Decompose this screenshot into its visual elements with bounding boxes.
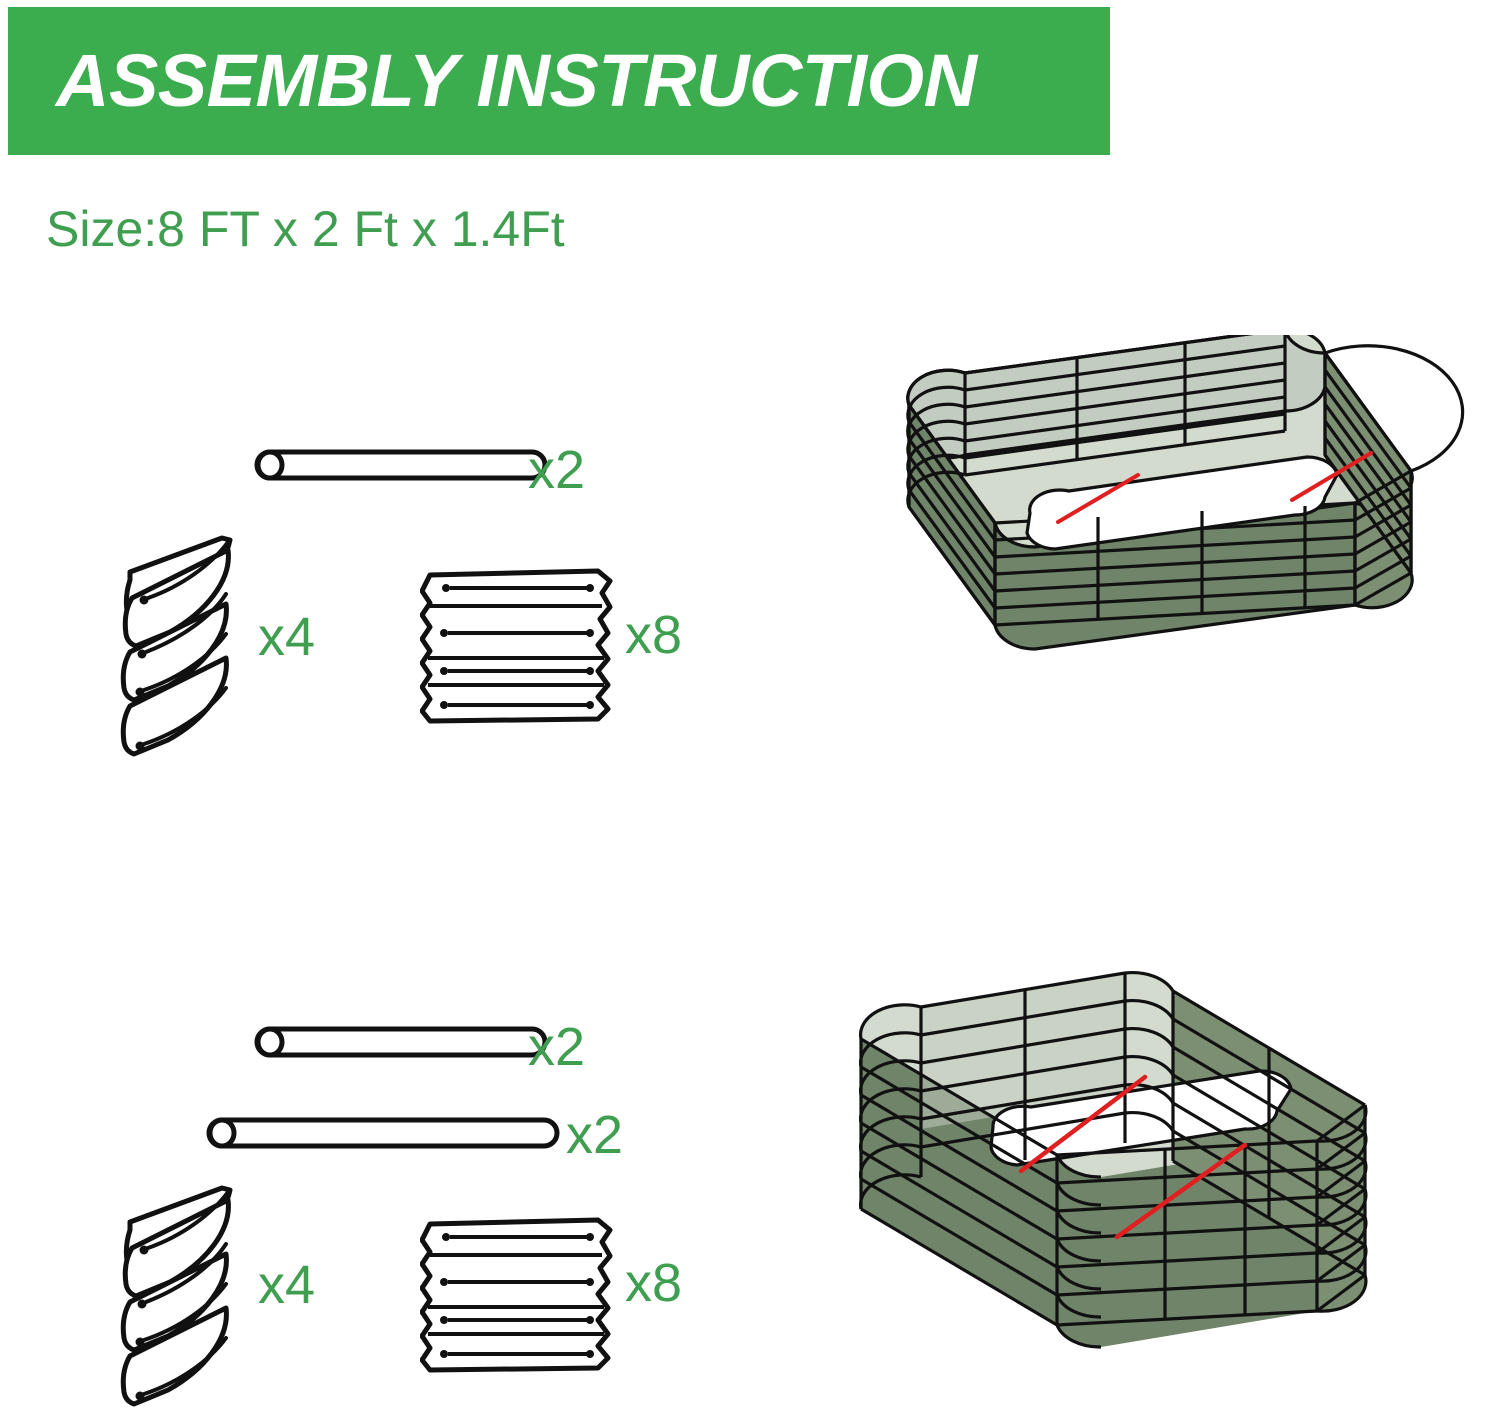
rod-icon xyxy=(202,1112,562,1154)
qty-label-rod-upper: x2 xyxy=(528,443,585,497)
qty-label-curved-upper: x4 xyxy=(258,610,315,664)
flat-panel-icon xyxy=(420,1212,620,1377)
qty-label-flat-upper: x8 xyxy=(625,608,682,662)
assembly-view-oval-bed xyxy=(855,335,1495,865)
assembly-instruction-page: ASSEMBLY INSTRUCTION Size:8 FT x 2 Ft x … xyxy=(0,0,1500,1389)
page-title: ASSEMBLY INSTRUCTION xyxy=(8,44,977,118)
flat-panel-icon xyxy=(420,563,620,728)
size-spec-label: Size:8 FT x 2 Ft x 1.4Ft xyxy=(46,200,565,258)
qty-label-flat-lower: x8 xyxy=(625,1256,682,1310)
qty-label-rod-lower-short: x2 xyxy=(528,1020,585,1074)
header-banner: ASSEMBLY INSTRUCTION xyxy=(8,7,1110,155)
qty-label-curved-lower: x4 xyxy=(258,1258,315,1312)
rod-icon xyxy=(250,1021,550,1063)
qty-label-rod-lower-long: x2 xyxy=(566,1108,623,1162)
assembly-view-rect-bed xyxy=(825,915,1485,1385)
rod-icon xyxy=(250,444,550,486)
